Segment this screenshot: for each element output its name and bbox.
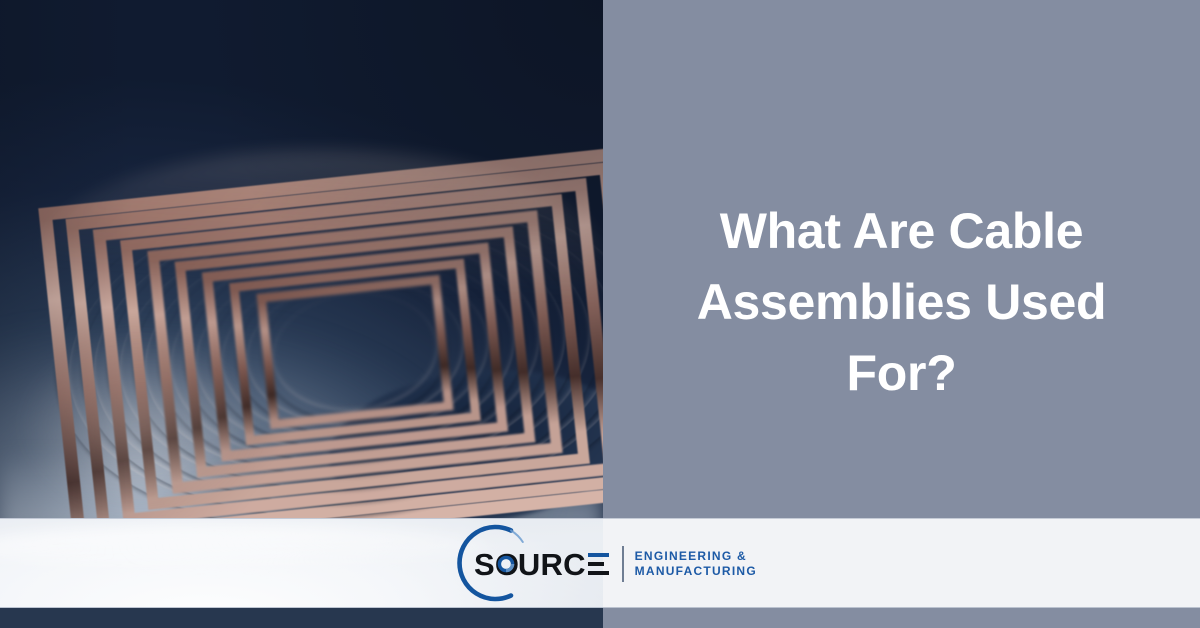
wordmark-letter-r: R [540, 549, 563, 580]
wordmark-letter-s: S [474, 549, 495, 580]
inner-blue-ring-icon [496, 554, 516, 575]
banner-canvas: What Are Cable Assemblies Used For? S O [0, 0, 1200, 628]
logo-tagline: ENGINEERING & MANUFACTURING [635, 549, 757, 579]
logo-lockup: S O U R C ENGINEERING & MAN [474, 547, 757, 581]
footer-strip-left [0, 608, 603, 628]
wordmark-letter-o: O [495, 549, 518, 580]
letter-e-bar-top [588, 553, 609, 557]
logo-wordmark: S O U R C [474, 549, 609, 580]
footer-strip-right [603, 608, 1200, 628]
letter-e-bar-middle [588, 562, 604, 566]
logo-divider [622, 546, 624, 582]
wordmark-letter-u: U [518, 549, 541, 580]
source-logo[interactable]: S O U R C ENGINEERING & MAN [446, 519, 746, 607]
cable-coil-graphic [31, 121, 603, 583]
wordmark-letter-e-bars [588, 553, 609, 575]
wordmark-letter-c: C [563, 549, 586, 580]
letter-e-bar-bottom [588, 571, 609, 575]
page-title: What Are Cable Assemblies Used For? [603, 196, 1200, 409]
